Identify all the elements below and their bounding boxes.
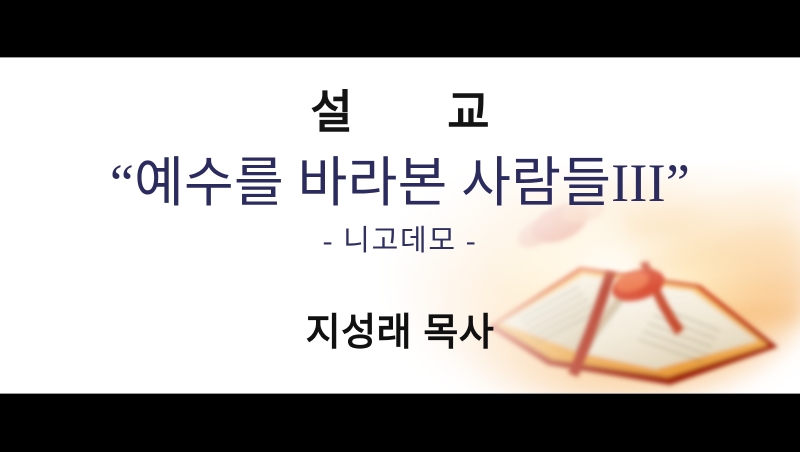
speaker-name: 지성래 목사 <box>0 309 800 357</box>
sermon-title: “예수를 바라본 사람들III” <box>0 150 800 216</box>
sermon-subtitle: - 니고데모 - <box>0 223 800 259</box>
sermon-label: 설 교 <box>0 84 800 140</box>
letterbox-bottom <box>0 394 800 452</box>
letterbox-top <box>0 0 800 57</box>
sermon-title-slide: 설 교 “예수를 바라본 사람들III” - 니고데모 - 지성래 목사 <box>0 57 800 394</box>
video-frame: 설 교 “예수를 바라본 사람들III” - 니고데모 - 지성래 목사 <box>0 0 800 452</box>
slide-text-layer: 설 교 “예수를 바라본 사람들III” - 니고데모 - 지성래 목사 <box>0 57 800 394</box>
